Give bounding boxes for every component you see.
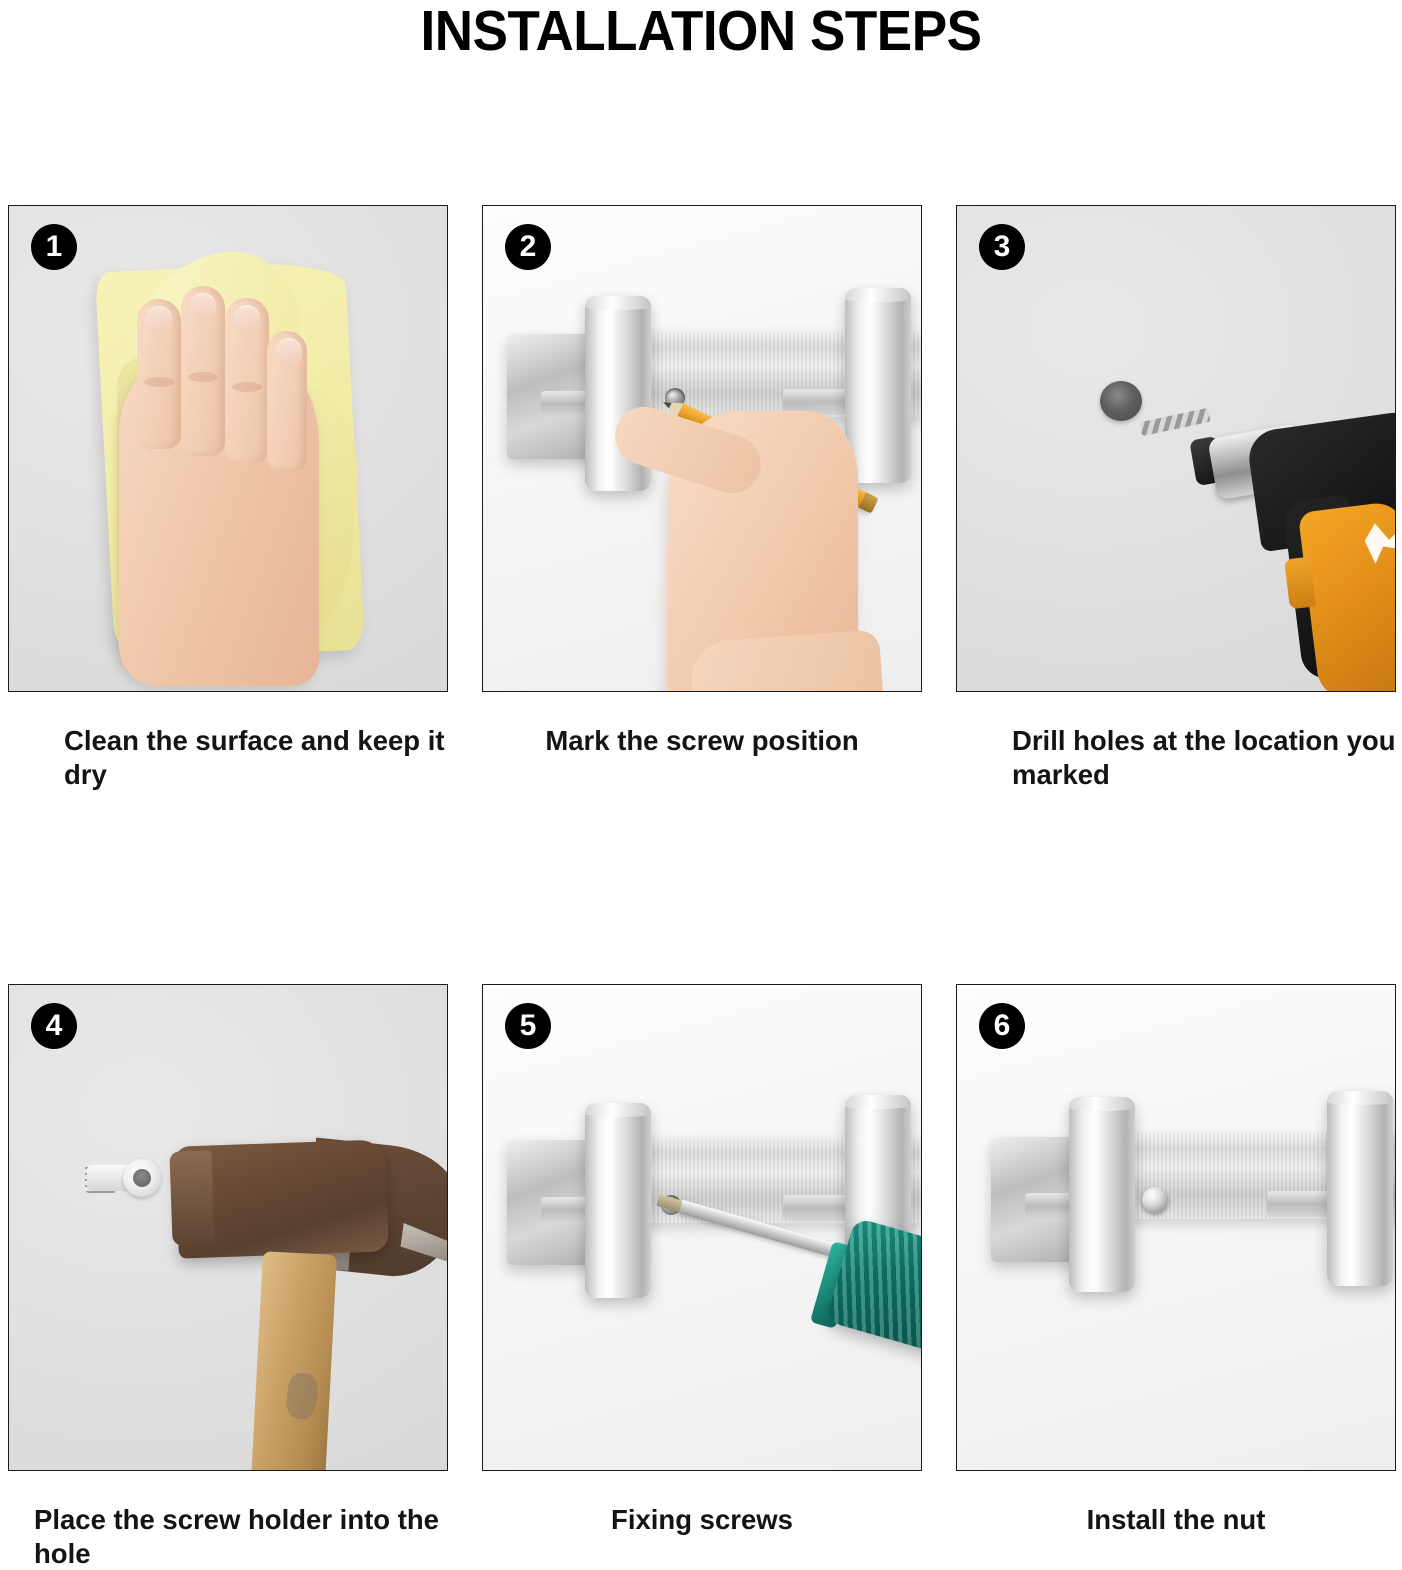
installed-screw-head [1142, 1187, 1168, 1213]
step-card-6: 6 Install the nut [956, 984, 1396, 1570]
fingernail [190, 293, 216, 319]
step-photo-3: 3 [956, 205, 1396, 692]
finger-pinky [267, 331, 307, 471]
white-wall-anchor [87, 1153, 159, 1201]
fingernail [234, 305, 260, 331]
knuckle [232, 382, 262, 392]
step-caption-6: Install the nut [956, 1503, 1396, 1537]
knuckle [188, 372, 218, 382]
fingernail [276, 338, 302, 364]
step-card-4: 4 Place the screw holder into the hole [8, 984, 448, 1570]
step-card-1: 1 Clean the surface and keep it dry [8, 205, 448, 791]
hook-left [1069, 1097, 1135, 1292]
drilled-hole [1100, 381, 1142, 421]
knuckle [144, 377, 174, 387]
step-badge-4: 4 [31, 1003, 77, 1049]
hammer-wooden-handle [251, 1251, 337, 1471]
step-caption-5: Fixing screws [482, 1503, 922, 1537]
step-caption-2: Mark the screw position [482, 724, 922, 758]
hook-left [585, 1103, 651, 1298]
page-title: INSTALLATION STEPS [49, 0, 1353, 62]
step-photo-1: 1 [8, 205, 448, 692]
anchor-collar [123, 1159, 161, 1197]
step-photo-4: 4 [8, 984, 448, 1471]
step-card-2: 2 Mark the screw position [482, 205, 922, 791]
step-card-3: 3 Drill holes at the location you marked [956, 205, 1396, 791]
step-photo-6: 6 [956, 984, 1396, 1471]
step-badge-2: 2 [505, 224, 551, 270]
steps-grid: 1 Clean the surface and keep it dry 2 Ma [8, 205, 1396, 1570]
step-badge-5: 5 [505, 1003, 551, 1049]
step-photo-5: 5 [482, 984, 922, 1471]
step-badge-1: 1 [31, 224, 77, 270]
finger-ring [225, 298, 269, 463]
step-badge-3: 3 [979, 224, 1025, 270]
step-caption-3: Drill holes at the location you marked [956, 724, 1396, 791]
step-badge-6: 6 [979, 1003, 1025, 1049]
hammer-face [169, 1150, 214, 1245]
step-caption-4: Place the screw holder into the hole [8, 1503, 448, 1570]
step-caption-1: Clean the surface and keep it dry [8, 724, 448, 791]
finger-middle [181, 286, 225, 456]
fingernail [146, 306, 172, 332]
finger-index [137, 299, 181, 449]
step-card-5: 5 Fixing screws [482, 984, 922, 1570]
hook-right [845, 288, 911, 483]
hook-right [1327, 1091, 1393, 1286]
step-photo-2: 2 [482, 205, 922, 692]
